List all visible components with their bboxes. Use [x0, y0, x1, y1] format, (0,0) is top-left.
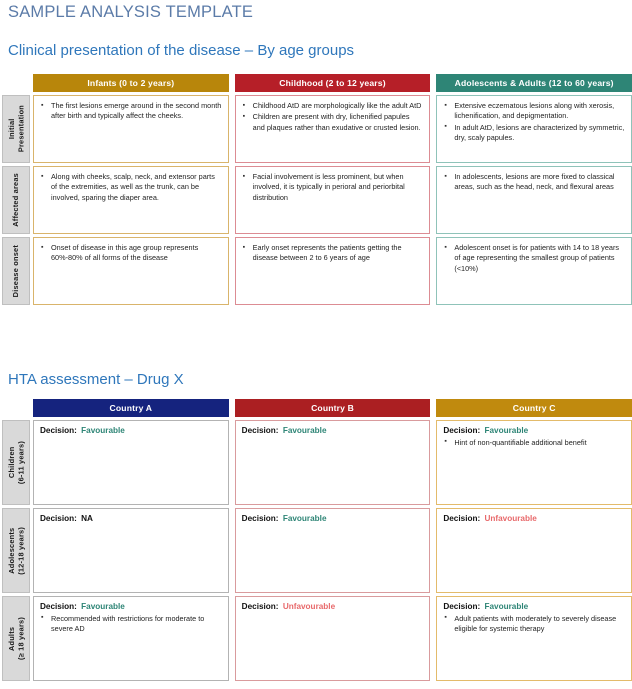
- bullet-list: Along with cheeks, scalp, neck, and exte…: [40, 172, 222, 203]
- bullet-list: Hint of non-quantifiable additional bene…: [443, 438, 625, 448]
- header-corner-spacer: [2, 74, 30, 92]
- bullet-list: Adult patients with moderately to severe…: [443, 614, 625, 635]
- table-header-row: Infants (0 to 2 years)Childhood (2 to 12…: [0, 74, 632, 92]
- hta-assessment-table: Country ACountry BCountry CChildren (6-1…: [0, 399, 632, 681]
- column-header-2: Childhood (2 to 12 years): [235, 74, 431, 92]
- decision-label: Decision:: [40, 426, 77, 435]
- bullet-item: Childhood AtD are morphologically like t…: [253, 101, 424, 111]
- decision-line: Decision: Favourable: [443, 602, 625, 613]
- decision-value: NA: [81, 514, 93, 523]
- table-cell: Facial involvement is less prominent, bu…: [235, 166, 431, 234]
- decision-label: Decision:: [443, 602, 480, 611]
- table-cell: In adolescents, lesions are more fixed t…: [436, 166, 632, 234]
- bullet-list: Childhood AtD are morphologically like t…: [242, 101, 424, 133]
- bullet-item: Hint of non-quantifiable additional bene…: [454, 438, 625, 448]
- table-cell: Early onset represents the patients gett…: [235, 237, 431, 305]
- decision-label: Decision:: [242, 426, 279, 435]
- decision-value: Favourable: [484, 602, 528, 611]
- bullet-item: The first lesions emerge around in the s…: [51, 101, 222, 122]
- table-row: Disease onsetOnset of disease in this ag…: [0, 237, 632, 305]
- row-header-text: Affected areas: [11, 173, 20, 227]
- row-header-label: Disease onset: [2, 237, 30, 305]
- table-cell: Decision: FavourableHint of non-quantifi…: [436, 420, 632, 505]
- bullet-item: Along with cheeks, scalp, neck, and exte…: [51, 172, 222, 203]
- bullet-list: Facial involvement is less prominent, bu…: [242, 172, 424, 203]
- decision-value: Unfavourable: [283, 602, 335, 611]
- row-header-text: Adolescents (12-18 years): [7, 527, 26, 575]
- table-cell: Decision: FavourableAdult patients with …: [436, 596, 632, 681]
- row-header-label: Affected areas: [2, 166, 30, 234]
- table-cell: Along with cheeks, scalp, neck, and exte…: [33, 166, 229, 234]
- table-row: Adolescents (12-18 years)Decision: NADec…: [0, 508, 632, 593]
- section-title-hta: HTA assessment – Drug X: [8, 371, 184, 388]
- bullet-item: Children are present with dry, lichenifi…: [253, 112, 424, 133]
- bullet-list: The first lesions emerge around in the s…: [40, 101, 222, 122]
- decision-line: Decision: Unfavourable: [242, 602, 424, 613]
- table-cell: Decision: FavourableRecommended with res…: [33, 596, 229, 681]
- decision-label: Decision:: [443, 426, 480, 435]
- decision-value: Favourable: [484, 426, 528, 435]
- table-cell: Decision: Unfavourable: [235, 596, 431, 681]
- decision-value: Unfavourable: [484, 514, 536, 523]
- column-header-2: Country B: [235, 399, 431, 417]
- column-header-3: Country C: [436, 399, 632, 417]
- table-cell: Extensive eczematous lesions along with …: [436, 95, 632, 163]
- row-header-label: Initial Presentation: [2, 95, 30, 163]
- bullet-item: Adolescent onset is for patients with 14…: [454, 243, 625, 274]
- bullet-item: Recommended with restrictions for modera…: [51, 614, 222, 635]
- column-header-3: Adolescents & Adults (12 to 60 years): [436, 74, 632, 92]
- decision-label: Decision:: [40, 514, 77, 523]
- bullet-list: In adolescents, lesions are more fixed t…: [443, 172, 625, 193]
- bullet-item: Facial involvement is less prominent, bu…: [253, 172, 424, 203]
- row-header-text: Disease onset: [11, 245, 20, 297]
- decision-label: Decision:: [40, 602, 77, 611]
- section-title-clinical: Clinical presentation of the disease – B…: [8, 42, 354, 59]
- decision-value: Favourable: [283, 426, 327, 435]
- table-header-row: Country ACountry BCountry C: [0, 399, 632, 417]
- table-row: Affected areasAlong with cheeks, scalp, …: [0, 166, 632, 234]
- decision-label: Decision:: [443, 514, 480, 523]
- decision-value: Favourable: [283, 514, 327, 523]
- decision-line: Decision: Favourable: [40, 426, 222, 437]
- page-title: SAMPLE ANALYSIS TEMPLATE: [8, 3, 253, 22]
- column-header-1: Infants (0 to 2 years): [33, 74, 229, 92]
- table-cell: Adolescent onset is for patients with 14…: [436, 237, 632, 305]
- table-cell: Childhood AtD are morphologically like t…: [235, 95, 431, 163]
- decision-line: Decision: Favourable: [40, 602, 222, 613]
- bullet-list: Extensive eczematous lesions along with …: [443, 101, 625, 143]
- row-header-text: Children (6-11 years): [7, 441, 26, 484]
- clinical-presentation-table: Infants (0 to 2 years)Childhood (2 to 12…: [0, 74, 632, 305]
- bullet-item: In adult AtD, lesions are characterized …: [454, 123, 625, 144]
- decision-value: Favourable: [81, 426, 125, 435]
- bullet-item: Extensive eczematous lesions along with …: [454, 101, 625, 122]
- table-cell: The first lesions emerge around in the s…: [33, 95, 229, 163]
- row-header-text: Initial Presentation: [7, 105, 26, 152]
- decision-line: Decision: Favourable: [242, 514, 424, 525]
- bullet-list: Early onset represents the patients gett…: [242, 243, 424, 264]
- table-cell: Decision: NA: [33, 508, 229, 593]
- decision-line: Decision: NA: [40, 514, 222, 525]
- table-cell: Decision: Favourable: [235, 420, 431, 505]
- decision-line: Decision: Favourable: [443, 426, 625, 437]
- table-cell: Decision: Unfavourable: [436, 508, 632, 593]
- bullet-item: Early onset represents the patients gett…: [253, 243, 424, 264]
- bullet-list: Adolescent onset is for patients with 14…: [443, 243, 625, 274]
- table-cell: Onset of disease in this age group repre…: [33, 237, 229, 305]
- decision-line: Decision: Favourable: [242, 426, 424, 437]
- table-row: Initial PresentationThe first lesions em…: [0, 95, 632, 163]
- column-header-1: Country A: [33, 399, 229, 417]
- bullet-list: Recommended with restrictions for modera…: [40, 614, 222, 635]
- bullet-item: In adolescents, lesions are more fixed t…: [454, 172, 625, 193]
- decision-value: Favourable: [81, 602, 125, 611]
- row-header-label: Adults (≥ 18 years): [2, 596, 30, 681]
- bullet-list: Onset of disease in this age group repre…: [40, 243, 222, 264]
- bullet-item: Onset of disease in this age group repre…: [51, 243, 222, 264]
- table-cell: Decision: Favourable: [33, 420, 229, 505]
- row-header-label: Children (6-11 years): [2, 420, 30, 505]
- table-row: Children (6-11 years)Decision: Favourabl…: [0, 420, 632, 505]
- decision-line: Decision: Unfavourable: [443, 514, 625, 525]
- bullet-item: Adult patients with moderately to severe…: [454, 614, 625, 635]
- row-header-text: Adults (≥ 18 years): [7, 617, 26, 660]
- table-cell: Decision: Favourable: [235, 508, 431, 593]
- table-row: Adults (≥ 18 years)Decision: FavourableR…: [0, 596, 632, 681]
- decision-label: Decision:: [242, 602, 279, 611]
- row-header-label: Adolescents (12-18 years): [2, 508, 30, 593]
- header-corner-spacer: [2, 399, 30, 417]
- decision-label: Decision:: [242, 514, 279, 523]
